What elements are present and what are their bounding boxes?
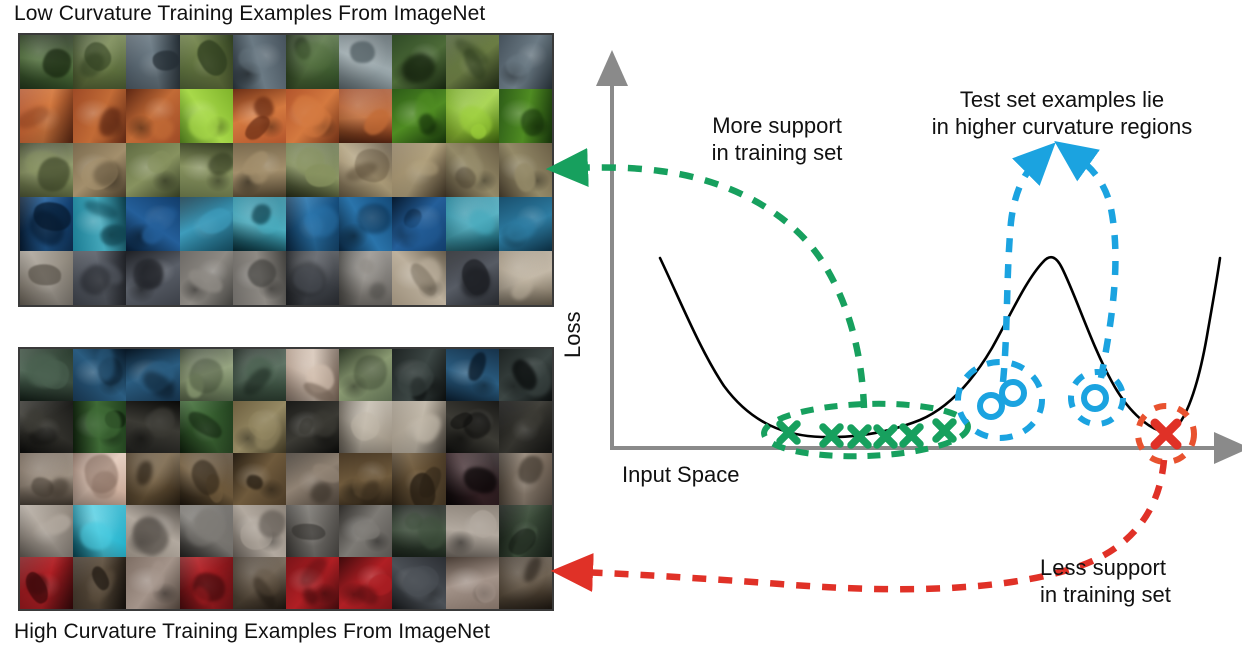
thumbnail-cell bbox=[233, 197, 286, 251]
test-set-annotation: Test set examples lie in higher curvatur… bbox=[904, 86, 1220, 140]
y-axis-label: Loss bbox=[560, 312, 586, 358]
thumbnail-cell bbox=[446, 197, 499, 251]
thumbnail-cell bbox=[73, 89, 126, 143]
more-support-callout-arrow[interactable] bbox=[575, 167, 864, 408]
thumbnail-cell bbox=[286, 557, 339, 609]
thumbnail-cell bbox=[233, 401, 286, 453]
thumbnail-cell bbox=[73, 453, 126, 505]
thumbnail-cell bbox=[126, 35, 179, 89]
low-curvature-cluster-outline bbox=[763, 400, 969, 459]
thumbnail-cell bbox=[446, 401, 499, 453]
thumbnail-cell bbox=[286, 453, 339, 505]
thumbnail-cell bbox=[499, 89, 552, 143]
thumbnail-cell bbox=[499, 453, 552, 505]
thumbnail-cell bbox=[126, 349, 179, 401]
training-example-markers bbox=[780, 422, 953, 445]
thumbnail-cell bbox=[446, 349, 499, 401]
thumbnail-cell bbox=[126, 197, 179, 251]
test-circle-marker bbox=[980, 395, 1002, 417]
thumbnail-cell bbox=[126, 251, 179, 305]
thumbnail-cell bbox=[286, 143, 339, 197]
high-curvature-example-outline bbox=[1138, 406, 1194, 462]
figure-root: Low Curvature Training Examples From Ima… bbox=[0, 0, 1242, 654]
thumbnail-cell bbox=[499, 35, 552, 89]
thumbnail-cell bbox=[392, 197, 445, 251]
thumbnail-cell bbox=[20, 505, 73, 557]
thumbnail-cell bbox=[73, 557, 126, 609]
thumbnail-cell bbox=[286, 89, 339, 143]
thumbnail-cell bbox=[286, 197, 339, 251]
thumbnail-cell bbox=[286, 505, 339, 557]
test-cluster-right-outline bbox=[1071, 372, 1123, 424]
thumbnail-cell bbox=[499, 251, 552, 305]
test-set-callout-arrow-left[interactable] bbox=[1003, 163, 1035, 382]
thumbnail-cell bbox=[73, 35, 126, 89]
test-circle-marker bbox=[1084, 387, 1106, 409]
thumbnail-cell bbox=[180, 89, 233, 143]
thumbnail-cell bbox=[180, 35, 233, 89]
thumbnail-cell bbox=[446, 557, 499, 609]
thumbnail-cell bbox=[339, 89, 392, 143]
thumbnail-cell bbox=[446, 89, 499, 143]
thumbnail-cell bbox=[339, 251, 392, 305]
sparse-training-x-marker bbox=[1155, 423, 1177, 445]
thumbnail-cell bbox=[392, 505, 445, 557]
thumbnail-cell bbox=[392, 453, 445, 505]
thumbnail-cell bbox=[126, 89, 179, 143]
thumbnail-cell bbox=[446, 143, 499, 197]
thumbnail-cell bbox=[233, 89, 286, 143]
thumbnail-cell bbox=[446, 35, 499, 89]
thumbnail-cell bbox=[73, 349, 126, 401]
thumbnail-cell bbox=[20, 197, 73, 251]
less-support-annotation: Less support in training set bbox=[1040, 554, 1230, 608]
thumbnail-cell bbox=[392, 35, 445, 89]
thumbnail-cell bbox=[20, 143, 73, 197]
x-axis-label: Input Space bbox=[622, 462, 739, 488]
thumbnail-cell bbox=[180, 251, 233, 305]
thumbnail-cell bbox=[339, 197, 392, 251]
high-curvature-caption: High Curvature Training Examples From Im… bbox=[14, 620, 490, 644]
loss-curve bbox=[660, 257, 1220, 437]
thumbnail-cell bbox=[339, 143, 392, 197]
test-set-callout-arrow-right[interactable] bbox=[1078, 158, 1115, 378]
thumbnail-cell bbox=[233, 35, 286, 89]
thumbnail-cell bbox=[339, 349, 392, 401]
thumbnail-cell bbox=[73, 505, 126, 557]
thumbnail-cell bbox=[286, 35, 339, 89]
thumbnail-cell bbox=[73, 251, 126, 305]
thumbnail-cell bbox=[392, 143, 445, 197]
thumbnail-cell bbox=[392, 89, 445, 143]
thumbnail-cell bbox=[286, 251, 339, 305]
test-circle-marker bbox=[1002, 382, 1024, 404]
thumbnail-cell bbox=[233, 251, 286, 305]
training-x-marker bbox=[877, 428, 894, 445]
thumbnail-cell bbox=[499, 143, 552, 197]
thumbnail-cell bbox=[286, 349, 339, 401]
thumbnail-cell bbox=[339, 453, 392, 505]
thumbnail-cell bbox=[126, 505, 179, 557]
thumbnail-cell bbox=[126, 143, 179, 197]
thumbnail-cell bbox=[446, 505, 499, 557]
thumbnail-subject bbox=[134, 518, 161, 545]
thumbnail-cell bbox=[499, 505, 552, 557]
thumbnail-texture bbox=[499, 401, 552, 453]
training-x-marker bbox=[851, 428, 868, 445]
thumbnail-cell bbox=[180, 143, 233, 197]
training-x-marker bbox=[823, 427, 840, 444]
thumbnail-cell bbox=[339, 401, 392, 453]
thumbnail-cell bbox=[20, 349, 73, 401]
test-cluster-left-outline bbox=[958, 362, 1042, 438]
test-example-markers bbox=[980, 382, 1106, 417]
thumbnail-cell bbox=[392, 251, 445, 305]
thumbnail-cell bbox=[499, 401, 552, 453]
thumbnail-cell bbox=[233, 349, 286, 401]
thumbnail-cell bbox=[20, 35, 73, 89]
thumbnail-cell bbox=[126, 401, 179, 453]
thumbnail-cell bbox=[180, 505, 233, 557]
thumbnail-cell bbox=[499, 349, 552, 401]
thumbnail-cell bbox=[339, 557, 392, 609]
thumbnail-cell bbox=[20, 453, 73, 505]
thumbnail-cell bbox=[392, 349, 445, 401]
thumbnail-cell bbox=[446, 453, 499, 505]
low-curvature-caption: Low Curvature Training Examples From Ima… bbox=[14, 2, 485, 26]
thumbnail-texture bbox=[126, 453, 179, 505]
thumbnail-subject bbox=[152, 50, 179, 71]
thumbnail-cell bbox=[392, 557, 445, 609]
thumbnail-cell bbox=[20, 401, 73, 453]
thumbnail-cell bbox=[180, 453, 233, 505]
thumbnail-cell bbox=[180, 557, 233, 609]
thumbnail-cell bbox=[126, 453, 179, 505]
thumbnail-cell bbox=[339, 35, 392, 89]
thumbnail-cell bbox=[126, 557, 179, 609]
thumbnail-cell bbox=[73, 197, 126, 251]
high-curvature-image-grid bbox=[18, 347, 554, 611]
thumbnail-cell bbox=[180, 197, 233, 251]
thumbnail-cell bbox=[73, 143, 126, 197]
thumbnail-cell bbox=[339, 505, 392, 557]
thumbnail-cell bbox=[499, 557, 552, 609]
thumbnail-cell bbox=[20, 557, 73, 609]
thumbnail-cell bbox=[20, 89, 73, 143]
thumbnail-cell bbox=[286, 401, 339, 453]
training-x-marker bbox=[936, 422, 953, 439]
thumbnail-cell bbox=[233, 453, 286, 505]
training-x-marker bbox=[903, 427, 920, 444]
thumbnail-texture bbox=[499, 557, 552, 609]
thumbnail-cell bbox=[233, 505, 286, 557]
training-x-marker bbox=[780, 424, 797, 441]
more-support-annotation: More support in training set bbox=[672, 112, 882, 166]
thumbnail-cell bbox=[73, 401, 126, 453]
thumbnail-cell bbox=[180, 349, 233, 401]
thumbnail-cell bbox=[233, 557, 286, 609]
thumbnail-cell bbox=[180, 401, 233, 453]
thumbnail-cell bbox=[233, 143, 286, 197]
thumbnail-cell bbox=[392, 401, 445, 453]
low-curvature-image-grid bbox=[18, 33, 554, 307]
thumbnail-cell bbox=[446, 251, 499, 305]
thumbnail-cell bbox=[20, 251, 73, 305]
thumbnail-cell bbox=[499, 197, 552, 251]
